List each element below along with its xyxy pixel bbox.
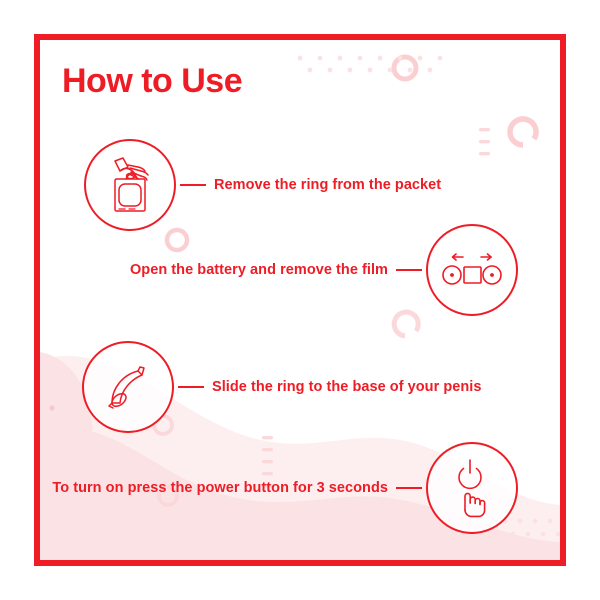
step-connector-4 — [396, 487, 422, 490]
how-to-use-infographic: How to Use — [0, 0, 600, 600]
step-connector-1 — [180, 184, 206, 187]
power-button-press-icon — [448, 458, 496, 518]
hand-pulling-ring-from-packet-icon — [104, 155, 156, 215]
step-label-3: Slide the ring to the base of your penis — [212, 379, 481, 395]
step-connector-3 — [178, 386, 204, 389]
step-icon-circle-2 — [426, 224, 518, 316]
battery-remove-film-icon — [441, 247, 503, 293]
step-connector-2 — [396, 269, 422, 272]
banana-with-ring-icon — [100, 359, 156, 415]
step-item-1: Remove the ring from the packet — [84, 137, 441, 233]
step-icon-circle-4 — [426, 442, 518, 534]
step-item-4: To turn on press the power button for 3 … — [52, 440, 518, 536]
step-label-1: Remove the ring from the packet — [214, 177, 441, 193]
step-icon-circle-1 — [84, 139, 176, 231]
step-icon-circle-3 — [82, 341, 174, 433]
page-title: How to Use — [62, 63, 242, 100]
step-label-2: Open the battery and remove the film — [130, 262, 388, 278]
step-label-4: To turn on press the power button for 3 … — [52, 480, 388, 496]
step-item-2: Open the battery and remove the film — [130, 222, 518, 318]
step-item-3: Slide the ring to the base of your penis — [82, 339, 481, 435]
